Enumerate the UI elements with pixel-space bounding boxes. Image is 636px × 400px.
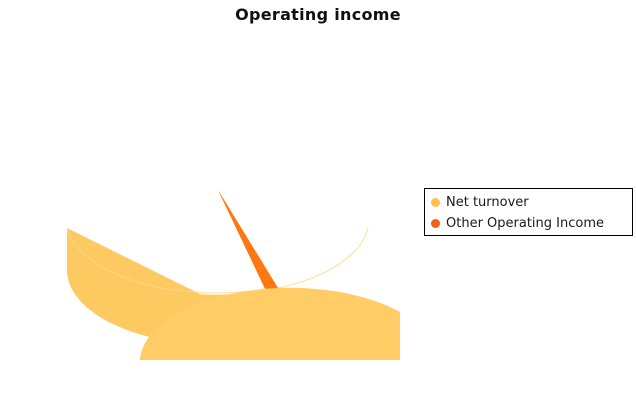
legend-label-net-turnover: Net turnover: [446, 192, 529, 213]
legend-item-other-operating-income[interactable]: Other Operating Income: [431, 213, 628, 234]
legend-swatch-icon-net-turnover: [431, 198, 440, 207]
chart-title: Operating income: [0, 5, 636, 24]
pie-chart-figure: Operating income Net turnover Other Oper…: [0, 0, 636, 400]
pie-3d-graphic: [40, 60, 400, 360]
legend-label-other-operating-income: Other Operating Income: [446, 213, 604, 234]
pie-plot-area: [40, 60, 400, 360]
legend-item-net-turnover[interactable]: Net turnover: [431, 192, 628, 213]
pie-slice-top-other-operating-income[interactable]: [218, 190, 278, 289]
chart-legend: Net turnover Other Operating Income: [424, 188, 633, 236]
legend-swatch-icon-other-operating-income: [431, 219, 440, 228]
